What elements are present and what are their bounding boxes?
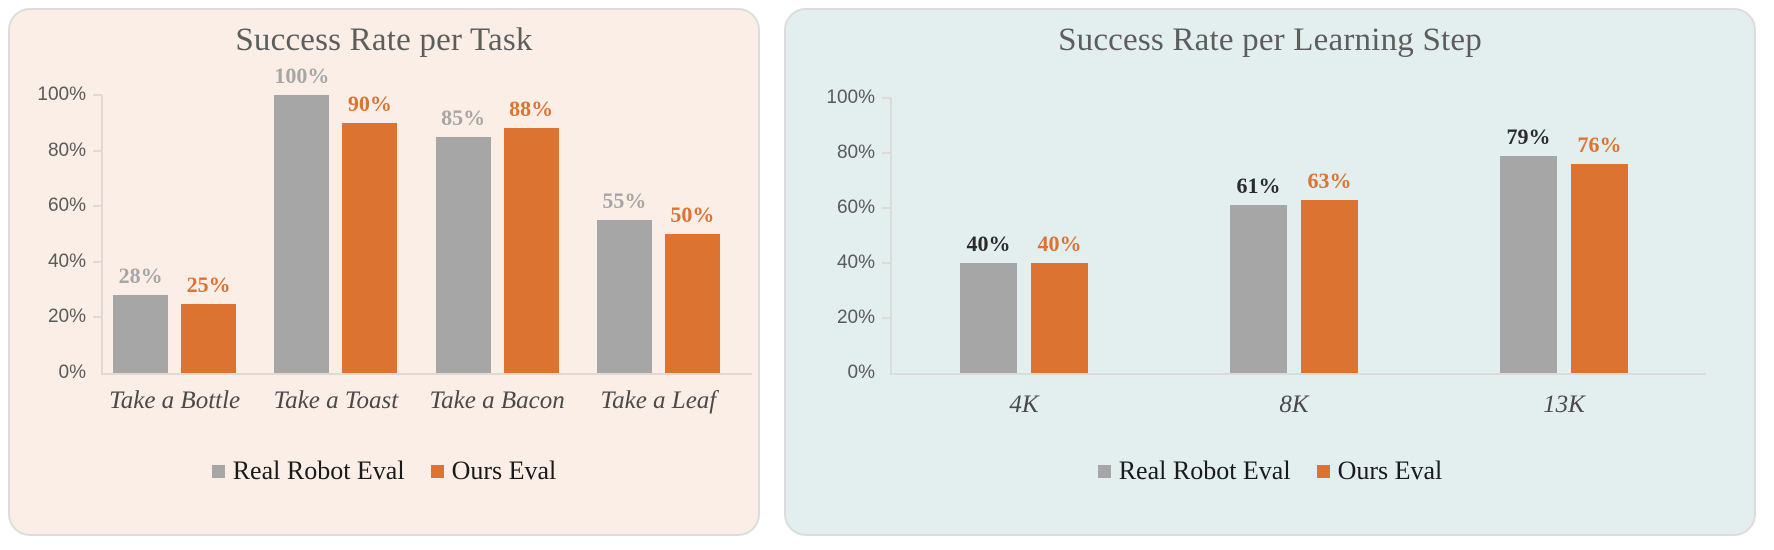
y-axis-tick-mark	[882, 317, 891, 319]
bar-value-label: 76%	[1578, 132, 1622, 158]
bar-ours-eval[interactable]	[1571, 164, 1628, 373]
bar-value-label: 88%	[509, 96, 553, 122]
bar-ours-eval[interactable]	[1301, 200, 1358, 373]
legend-item-ours-eval[interactable]: Ours Eval	[431, 456, 557, 486]
bar-ours-eval[interactable]	[504, 128, 559, 373]
y-axis-tick-mark	[882, 262, 891, 264]
figure-container: Success Rate per Task 0%20%40%60%80%100%…	[0, 0, 1774, 550]
y-axis-tick-label: 20%	[837, 307, 875, 329]
bar-value-label: 50%	[670, 202, 714, 228]
x-axis-category-label: 4K	[1009, 391, 1038, 419]
y-axis-line	[890, 98, 892, 373]
bar-value-label: 100%	[274, 63, 329, 89]
y-axis-tick-label: 0%	[59, 362, 86, 384]
x-axis-baseline	[101, 373, 752, 375]
bar-value-label: 61%	[1237, 173, 1281, 199]
x-axis-category-label: Take a Bacon	[430, 387, 565, 415]
bar-value-label: 55%	[602, 188, 646, 214]
y-axis-tick-mark	[882, 207, 891, 209]
bar-ours-eval[interactable]	[342, 123, 397, 373]
bar-ours-eval[interactable]	[181, 304, 236, 374]
y-axis-tick-label: 20%	[48, 306, 86, 328]
legend-right: Real Robot Eval Ours Eval	[786, 456, 1754, 486]
bar-value-label: 63%	[1308, 168, 1352, 194]
bar-real-robot-eval[interactable]	[597, 220, 652, 373]
chart-title-left: Success Rate per Task	[10, 22, 758, 59]
x-axis-category-label: Take a Leaf	[601, 387, 717, 415]
y-axis-tick-mark	[882, 97, 891, 99]
bar-real-robot-eval[interactable]	[1230, 205, 1287, 373]
legend-swatch-orange-icon	[1317, 465, 1330, 478]
bar-value-label: 40%	[967, 231, 1011, 257]
x-axis-category-label: Take a Bottle	[109, 387, 240, 415]
legend-label-real-robot-eval: Real Robot Eval	[1119, 456, 1291, 486]
y-axis-tick-label: 40%	[837, 252, 875, 274]
bar-value-label: 90%	[348, 91, 392, 117]
legend-swatch-gray-icon	[212, 465, 225, 478]
x-axis-category-label: Take a Toast	[274, 387, 399, 415]
legend-left: Real Robot Eval Ours Eval	[10, 456, 758, 486]
y-axis-tick-label: 80%	[837, 142, 875, 164]
y-axis-tick-mark	[93, 150, 102, 152]
y-axis-tick-mark	[882, 152, 891, 154]
y-axis-tick-mark	[93, 316, 102, 318]
legend-item-real-robot-eval[interactable]: Real Robot Eval	[1098, 456, 1291, 486]
chart-card-success-rate-per-task: Success Rate per Task 0%20%40%60%80%100%…	[8, 8, 760, 536]
y-axis-tick-label: 100%	[826, 87, 875, 109]
x-axis-category-label: 13K	[1543, 391, 1585, 419]
y-axis-tick-label: 80%	[48, 140, 86, 162]
bar-real-robot-eval[interactable]	[274, 95, 329, 373]
y-axis-tick-label: 100%	[37, 84, 86, 106]
chart-title-right: Success Rate per Learning Step	[786, 22, 1754, 59]
bar-value-label: 25%	[187, 272, 231, 298]
chart-card-success-rate-per-learning-step: Success Rate per Learning Step 0%20%40%6…	[784, 8, 1756, 536]
legend-item-ours-eval[interactable]: Ours Eval	[1317, 456, 1443, 486]
legend-label-real-robot-eval: Real Robot Eval	[233, 456, 405, 486]
bar-value-label: 28%	[119, 263, 163, 289]
bar-ours-eval[interactable]	[665, 234, 720, 373]
y-axis-tick-mark	[93, 94, 102, 96]
legend-swatch-orange-icon	[431, 465, 444, 478]
legend-label-ours-eval: Ours Eval	[452, 456, 557, 486]
y-axis-tick-label: 40%	[48, 251, 86, 273]
bar-real-robot-eval[interactable]	[436, 137, 491, 373]
bar-real-robot-eval[interactable]	[960, 263, 1017, 373]
bar-value-label: 85%	[441, 105, 485, 131]
y-axis-line	[101, 95, 103, 373]
y-axis-tick-mark	[93, 205, 102, 207]
y-axis-tick-mark	[93, 261, 102, 263]
bar-value-label: 79%	[1507, 124, 1551, 150]
y-axis-tick-label: 60%	[48, 195, 86, 217]
legend-swatch-gray-icon	[1098, 465, 1111, 478]
bar-ours-eval[interactable]	[1031, 263, 1088, 373]
x-axis-baseline	[890, 373, 1706, 375]
y-axis-tick-label: 60%	[837, 197, 875, 219]
x-axis-category-label: 8K	[1279, 391, 1308, 419]
bar-value-label: 40%	[1038, 231, 1082, 257]
legend-item-real-robot-eval[interactable]: Real Robot Eval	[212, 456, 405, 486]
legend-label-ours-eval: Ours Eval	[1338, 456, 1443, 486]
bar-real-robot-eval[interactable]	[113, 295, 168, 373]
bar-real-robot-eval[interactable]	[1500, 156, 1557, 373]
y-axis-tick-label: 0%	[848, 362, 875, 384]
